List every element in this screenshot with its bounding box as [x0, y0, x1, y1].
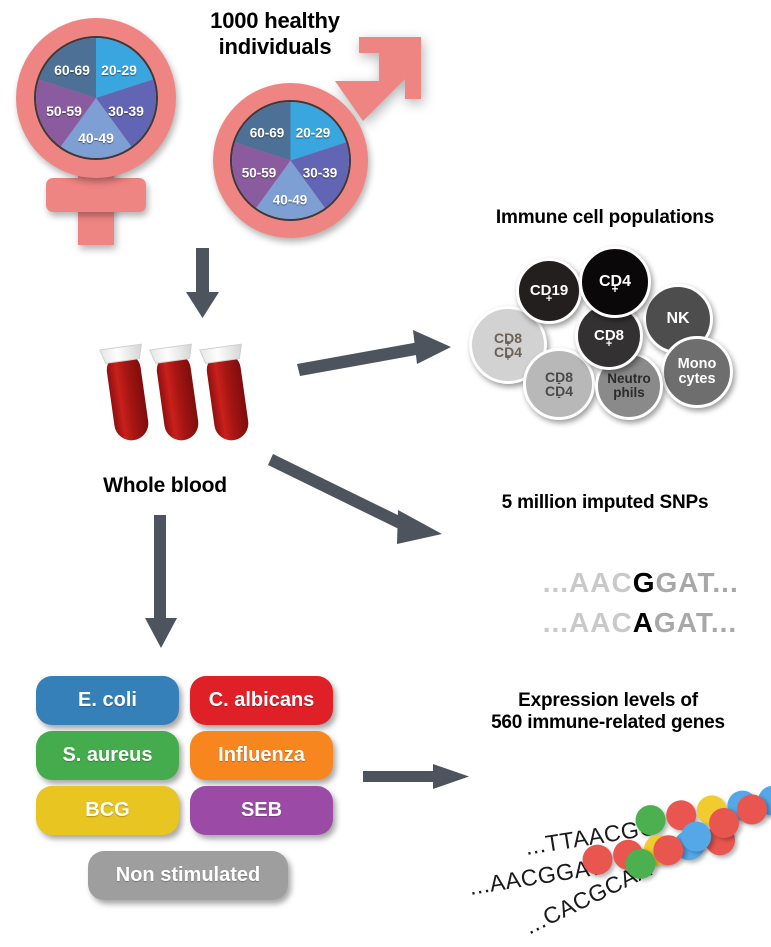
cohort-title-line1: 1000 healthy	[180, 8, 370, 34]
cell-label-cd8pcd4p-line1: CD8+	[494, 331, 522, 345]
cell-label-cd8ncd4n-line1: CD8-	[545, 370, 573, 384]
female-crossbar	[46, 178, 146, 212]
cell-label-cd8ncd4n-line2: CD4-	[545, 384, 573, 398]
stimulus-label-seb: SEB	[241, 799, 282, 822]
female-pie-label-30-39: 30-39	[108, 103, 144, 119]
snp-row-2: ...AACAGAT...	[490, 575, 737, 671]
stimulus-label-influenza: Influenza	[218, 744, 305, 767]
stimulus-seb[interactable]: SEB	[190, 786, 333, 835]
male-pie-label-20-29: 20-29	[296, 126, 331, 141]
stimulus-s-aureus[interactable]: S. aureus	[36, 731, 179, 780]
female-pie-label-50-59: 50-59	[46, 103, 82, 119]
blood-tubes-svg	[95, 335, 285, 465]
female-pie-label-60-69: 60-69	[54, 62, 90, 78]
snps-title: 5 million imputed SNPs	[450, 492, 760, 514]
cell-label-monocytes-line2: cytes	[678, 372, 717, 387]
expression-strands: ...TTAACGG ...AACGGAT ...CACGCAA	[440, 740, 771, 922]
cell-label-monocytes-line1: Mono	[678, 357, 717, 372]
arrow-blood-to-stimuli	[140, 515, 182, 650]
male-pie-label-50-59: 50-59	[242, 166, 277, 181]
cell-label-cd19: CD19+	[530, 283, 568, 298]
stimulus-bcg[interactable]: BCG	[36, 786, 179, 835]
immune-cell-cluster: CD8+ CD4+ CD19+ CD4+ NK CD8+	[465, 240, 765, 420]
snp-sequences: ...AACGGAT... ...AACAGAT...	[490, 535, 750, 625]
male-gender-symbol: 20-29 30-39 40-49 50-59 60-69	[205, 35, 420, 245]
cell-label-neutrophils-line2: phils	[607, 386, 651, 400]
cell-label-neutrophils-line1: Neutro	[607, 372, 651, 386]
snp-row-2-suffix: GAT...	[654, 607, 737, 638]
female-pie-label-20-29: 20-29	[101, 62, 137, 78]
immune-cell-monocytes: Mono cytes	[661, 336, 733, 408]
stimulus-influenza[interactable]: Influenza	[190, 731, 333, 780]
stimulus-label-c-albicans: C. albicans	[209, 689, 315, 712]
expression-title-line1: Expression levels of	[448, 690, 768, 712]
stimulus-non-stimulated[interactable]: Non stimulated	[88, 851, 288, 900]
stimulus-label-bcg: BCG	[85, 799, 129, 822]
figure-canvas: 1000 healthy individuals 20-29 30-39 40-…	[0, 0, 771, 922]
snp-row-2-variant: A	[633, 607, 654, 638]
stimulus-label-non-stimulated: Non stimulated	[116, 864, 260, 887]
cell-label-cd8pcd4p-line2: CD4+	[494, 345, 522, 359]
immune-cell-cd19: CD19+	[516, 258, 582, 324]
arrow-cohort-to-blood	[183, 248, 223, 320]
male-pie-label-60-69: 60-69	[250, 126, 285, 141]
cell-label-cd4: CD4+	[599, 274, 631, 290]
female-gender-symbol: 20-29 30-39 40-49 50-59 60-69	[8, 10, 198, 250]
male-pie-label-40-49: 40-49	[273, 193, 308, 208]
arrow-blood-to-snps	[270, 448, 450, 553]
cell-label-cd8: CD8+	[594, 328, 624, 343]
male-pie-label-30-39: 30-39	[303, 166, 338, 181]
female-pie-label-40-49: 40-49	[78, 130, 114, 146]
stimulus-label-s-aureus: S. aureus	[62, 744, 152, 767]
immune-cell-cd4: CD4+	[579, 246, 651, 318]
expression-title: Expression levels of 560 immune-related …	[448, 690, 768, 735]
expression-title-line2: 560 immune-related genes	[448, 712, 768, 734]
stimulus-c-albicans[interactable]: C. albicans	[190, 676, 333, 725]
stimulus-e-coli[interactable]: E. coli	[36, 676, 179, 725]
female-age-pie: 20-29 30-39 40-49 50-59 60-69	[34, 36, 158, 160]
arrow-blood-to-immune	[295, 330, 455, 380]
cell-label-nk: NK	[666, 311, 689, 327]
male-age-pie: 20-29 30-39 40-49 50-59 60-69	[230, 100, 351, 221]
immune-title: Immune cell populations	[440, 207, 770, 229]
whole-blood-tubes	[95, 335, 285, 465]
stimulus-label-e-coli: E. coli	[78, 689, 137, 712]
whole-blood-label: Whole blood	[80, 474, 250, 499]
snp-row-2-prefix: ...AAC	[543, 607, 633, 638]
